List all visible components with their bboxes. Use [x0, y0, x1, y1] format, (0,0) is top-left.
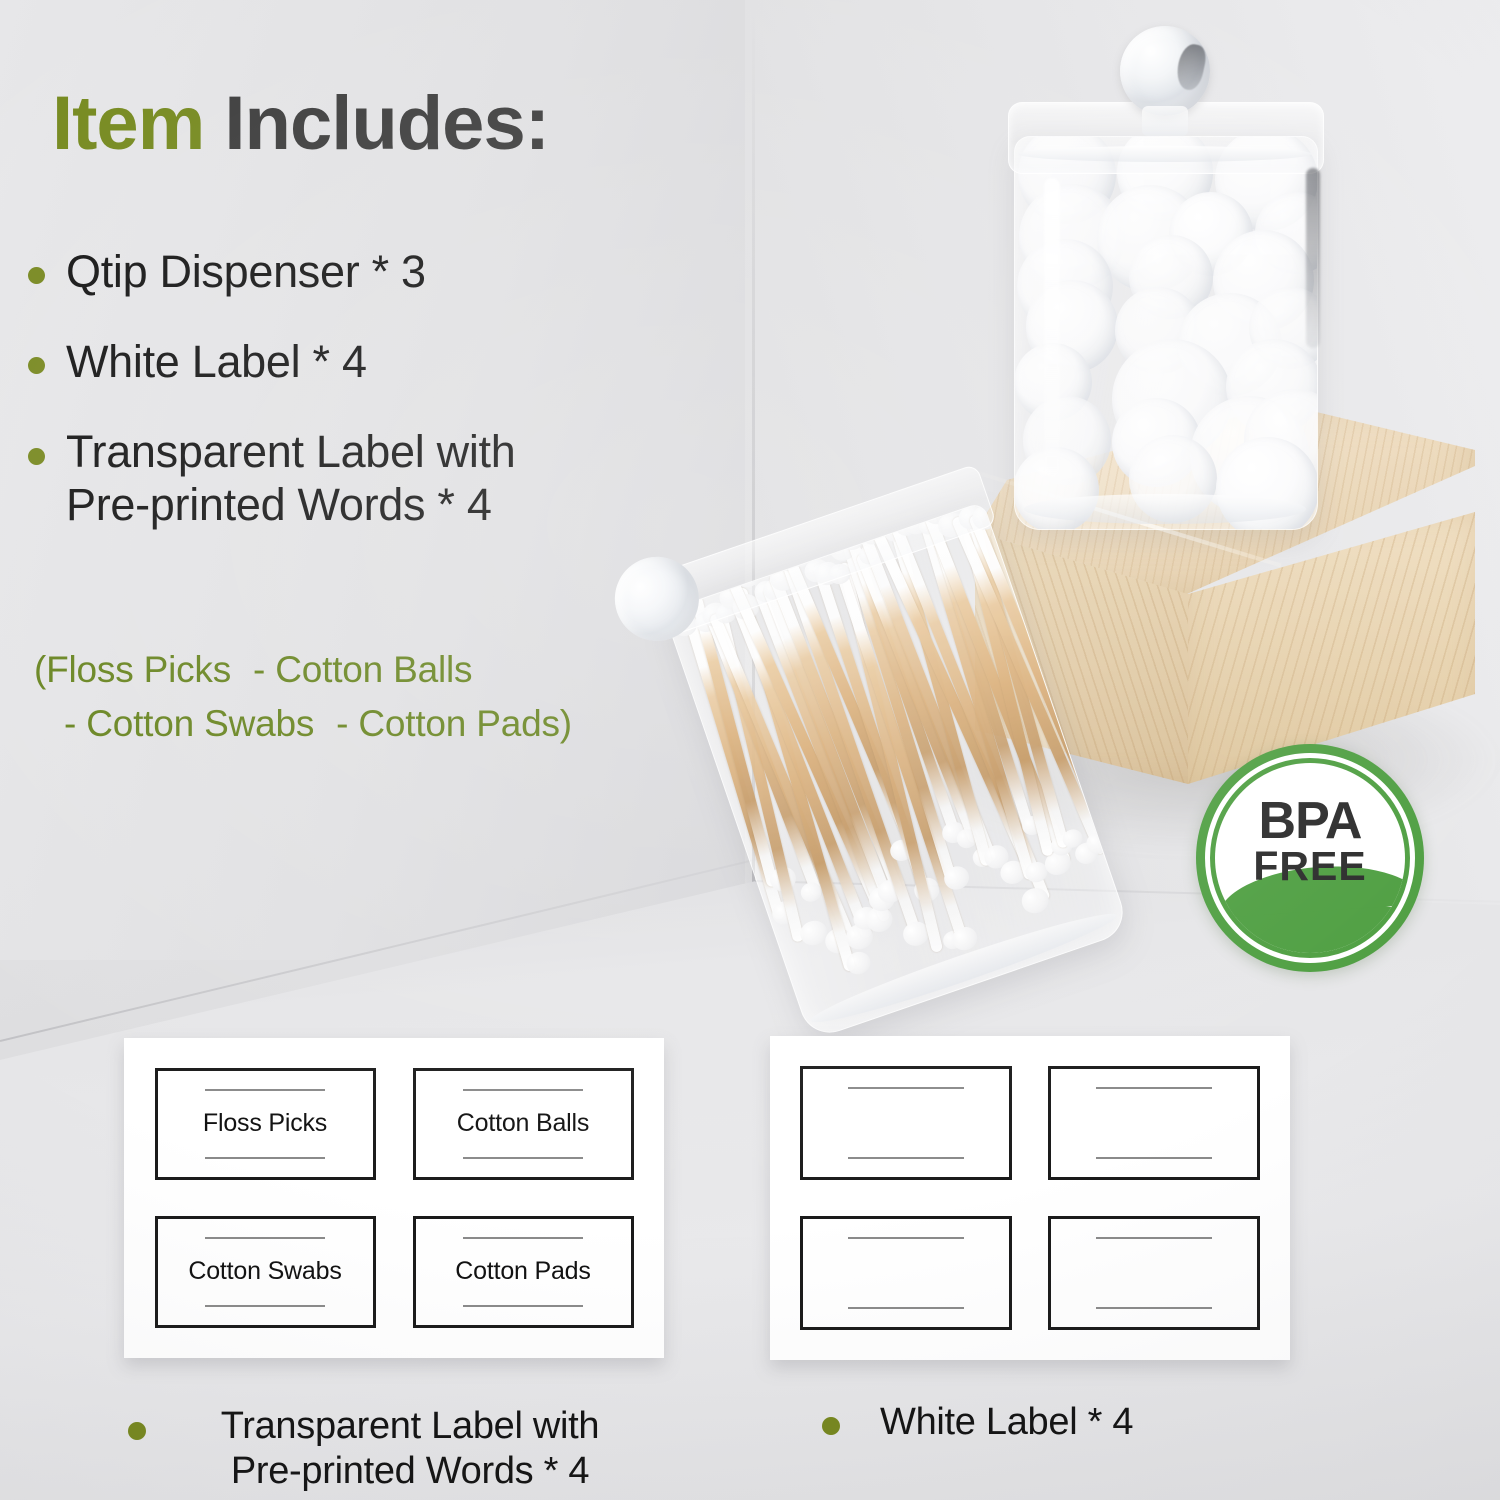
caption-line-2: Pre-printed Words * 4	[231, 1450, 589, 1492]
label-cell[interactable]	[1034, 1052, 1274, 1194]
label-rule-top	[848, 1237, 964, 1239]
list-item: White Label * 4	[18, 336, 698, 388]
label-rule-bottom	[463, 1305, 583, 1307]
label-rule-top	[848, 1087, 964, 1089]
label-cell[interactable]: Cotton Swabs	[140, 1202, 390, 1342]
label-cell[interactable]: Cotton Balls	[398, 1054, 648, 1194]
label-rule-bottom	[205, 1157, 325, 1159]
label-card	[800, 1216, 1012, 1330]
badge-text: BPA FREE	[1215, 797, 1405, 886]
label-card: Cotton Swabs	[155, 1216, 376, 1328]
jar-side-reflection	[1306, 168, 1320, 348]
preprinted-words-list: (Floss Picks- Cotton Balls - Cotton Swab…	[34, 643, 654, 750]
label-rule-top	[463, 1089, 583, 1091]
list-item-label-line1: Transparent Label with	[66, 426, 516, 477]
label-grid: Floss Picks Cotton Balls Cotton Swabs	[140, 1054, 648, 1342]
label-rule-top	[463, 1237, 583, 1239]
label-card	[800, 1066, 1012, 1180]
list-item-label: Qtip Dispenser * 3	[66, 246, 426, 297]
bpa-free-badge: BPA FREE	[1196, 744, 1424, 972]
label-rule-top	[1096, 1237, 1212, 1239]
green-item-cotton-balls: - Cotton Balls	[253, 649, 472, 690]
label-rule-bottom	[1096, 1307, 1212, 1309]
item-includes-list: Qtip Dispenser * 3 White Label * 4 Trans…	[18, 246, 698, 569]
green-item-cotton-pads: - Cotton Pads	[336, 703, 560, 744]
badge-line-1: BPA	[1215, 797, 1405, 847]
white-label-caption: White Label * 4	[880, 1400, 1210, 1445]
jar-lid-rim	[1018, 146, 1312, 162]
caption-line-1: Transparent Label with	[221, 1405, 600, 1447]
label-cell[interactable]: Cotton Pads	[398, 1202, 648, 1342]
close-paren: )	[560, 703, 572, 744]
bullet-dot-icon	[128, 1422, 146, 1440]
white-label-sheet[interactable]	[770, 1036, 1290, 1360]
bullet-dot-icon	[28, 448, 45, 465]
label-card: Cotton Pads	[413, 1216, 634, 1328]
label-rule-top	[1096, 1087, 1212, 1089]
label-rule-bottom	[205, 1305, 325, 1307]
label-cell[interactable]: Floss Picks	[140, 1054, 390, 1194]
jar-knob-neck	[1142, 106, 1188, 136]
transparent-label-sheet[interactable]: Floss Picks Cotton Balls Cotton Swabs	[124, 1038, 664, 1358]
page-title: Item Includes:	[52, 86, 549, 162]
bullet-dot-icon	[28, 267, 45, 284]
label-cell[interactable]	[786, 1052, 1026, 1194]
label-grid	[786, 1052, 1274, 1344]
preprinted-words-row-2: - Cotton Swabs- Cotton Pads)	[34, 697, 654, 751]
transparent-label-caption: Transparent Label with Pre-printed Words…	[190, 1404, 630, 1494]
caption-line-1: White Label * 4	[880, 1401, 1133, 1443]
label-rule-bottom	[848, 1307, 964, 1309]
badge-inner-circle: BPA FREE	[1215, 763, 1405, 953]
list-item-label: White Label * 4	[66, 336, 367, 387]
title-rest: Includes:	[224, 81, 549, 166]
bullet-dot-icon	[28, 357, 45, 374]
label-cell[interactable]	[1034, 1202, 1274, 1344]
preprinted-words-row-1: (Floss Picks- Cotton Balls	[34, 643, 654, 697]
label-card	[1048, 1066, 1260, 1180]
label-text: Cotton Balls	[457, 1109, 589, 1138]
label-card: Cotton Balls	[413, 1068, 634, 1180]
list-item: Qtip Dispenser * 3	[18, 246, 698, 298]
label-rule-bottom	[848, 1157, 964, 1159]
list-item: Transparent Label with Pre-printed Words…	[18, 426, 698, 530]
label-text: Floss Picks	[203, 1109, 327, 1138]
label-cell[interactable]	[786, 1202, 1026, 1344]
label-rule-top	[205, 1089, 325, 1091]
label-rule-top	[205, 1237, 325, 1239]
label-card: Floss Picks	[155, 1068, 376, 1180]
badge-line-2: FREE	[1215, 847, 1405, 886]
infographic-canvas: Item Includes: Qtip Dispenser * 3 White …	[0, 0, 1500, 1500]
label-text: Cotton Pads	[455, 1257, 590, 1286]
green-item-floss-picks: Floss Picks	[46, 649, 231, 690]
label-rule-bottom	[1096, 1157, 1212, 1159]
label-rule-bottom	[463, 1157, 583, 1159]
label-text: Cotton Swabs	[188, 1257, 341, 1286]
label-card	[1048, 1216, 1260, 1330]
bullet-dot-icon	[822, 1417, 840, 1435]
title-highlight: Item	[52, 81, 204, 166]
green-item-cotton-swabs: - Cotton Swabs	[64, 703, 314, 744]
list-item-label-line2: Pre-printed Words * 4	[66, 479, 492, 530]
open-paren: (	[34, 649, 46, 690]
